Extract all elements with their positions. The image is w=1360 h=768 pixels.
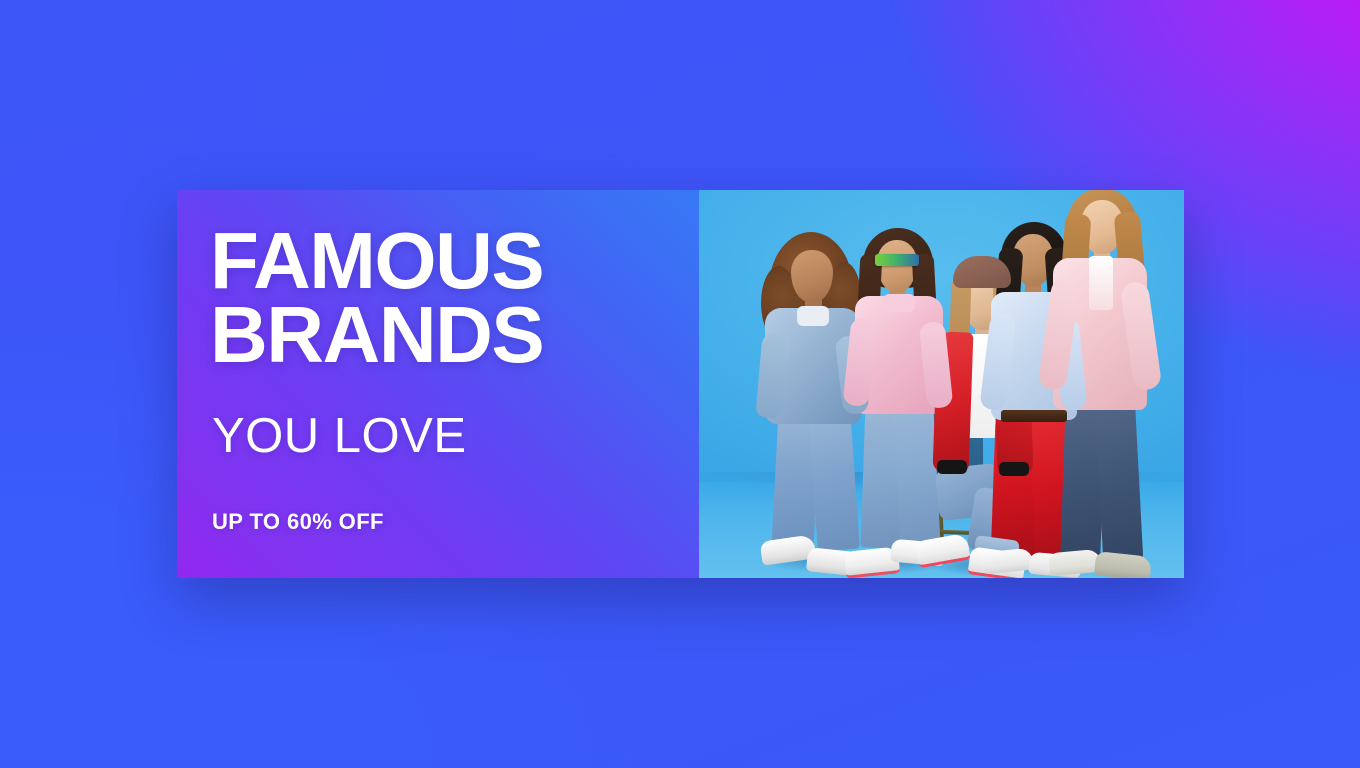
model-blazer-lapel xyxy=(1089,256,1113,310)
banner-offer-text: UP TO 60% OFF xyxy=(212,511,384,533)
model-bottom-dark-jeans xyxy=(1095,397,1143,561)
model-collar xyxy=(883,294,915,312)
model-arm-cuff xyxy=(999,462,1029,476)
banner-subheadline: YOU LOVE xyxy=(212,412,467,461)
page-background: FAMOUSBRANDS YOU LOVE UP TO 60% OFF xyxy=(0,0,1360,768)
sunglasses-icon xyxy=(875,254,919,266)
model-arm-cuff xyxy=(937,460,967,474)
beanie-cap xyxy=(953,256,1011,288)
banner-text-content: FAMOUSBRANDS YOU LOVE UP TO 60% OFF xyxy=(210,190,699,578)
famous-brands-promo-banner[interactable]: FAMOUSBRANDS YOU LOVE UP TO 60% OFF xyxy=(177,190,1184,578)
model-head xyxy=(791,250,833,302)
banner-photo xyxy=(699,190,1184,578)
banner-headline: FAMOUSBRANDS xyxy=(210,224,543,373)
model-head xyxy=(877,240,917,292)
headline-line-2: BRANDS xyxy=(210,298,543,372)
banner-text-panel: FAMOUSBRANDS YOU LOVE UP TO 60% OFF xyxy=(177,190,699,578)
model-collar xyxy=(797,306,829,326)
model-belt xyxy=(1001,410,1067,422)
